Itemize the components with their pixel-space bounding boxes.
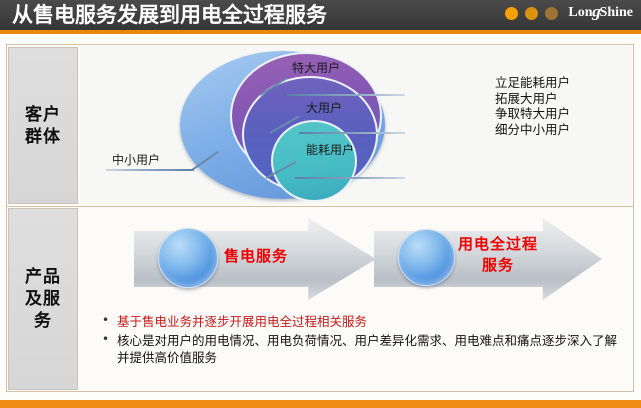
label-small-medium-users: 中小用户: [112, 151, 160, 168]
logo-text-post: Shine: [600, 5, 633, 20]
footer-accent-bar: [0, 400, 641, 408]
logo-text-mid: g: [592, 4, 601, 22]
leader-line-large-users: [299, 132, 405, 134]
logo-text-pre: Lon: [568, 5, 592, 20]
bullet-list: 基于售电业务并逐步开展用电全过程相关服务 核心是对用户的用电情况、用电负荷情况、…: [100, 313, 620, 368]
strategy-list-item: 拓展大用户: [495, 91, 570, 107]
strategy-list-item: 细分中小用户: [495, 122, 570, 138]
strategy-list: 立足能耗用户 拓展大用户 争取特大用户 细分中小用户: [495, 75, 570, 137]
sphere-icon-power-sales: [158, 228, 218, 288]
arrow-label-full-process-line1: 用电全过程: [458, 234, 538, 255]
arrow-label-full-process: 用电全过程 服务: [458, 234, 538, 276]
label-extra-large-users: 特大用户: [292, 59, 340, 76]
sidebar-label-customers: 客户 群体: [25, 104, 61, 148]
customer-diagram-panel: 中小用户 特大用户 大用户 能耗用户 立足能耗用户 拓展大用户 争取特大用户 细…: [80, 47, 632, 204]
page-title: 从售电服务发展到用电全过程服务: [12, 1, 327, 29]
arrow-label-full-process-line2: 服务: [458, 255, 538, 276]
logo-dot-2-icon: [525, 7, 538, 20]
sidebar-label-products-line2: 及服: [25, 288, 61, 310]
logo-dot-3-icon: [545, 7, 558, 20]
brand-logo: LongShine: [505, 5, 633, 21]
arrow-label-power-sales-line1: 售电服务: [224, 246, 288, 267]
leader-line-extra-large-users: [287, 94, 405, 96]
sidebar-label-customers-line1: 客户: [25, 104, 61, 126]
sidebar-label-products: 产品 及服 务: [25, 266, 61, 332]
sphere-icon-full-process: [398, 229, 455, 286]
strategy-list-item: 立足能耗用户: [495, 75, 570, 91]
bullet-item-2: 核心是对用户的用电情况、用电负荷情况、用户差异化需求、用电难点和痛点逐步深入了解…: [100, 332, 620, 367]
section-divider: [6, 206, 634, 207]
sidebar-item-customers: 客户 群体: [8, 47, 78, 204]
header-accent-strip: [0, 30, 641, 34]
bullet-item-1: 基于售电业务并逐步开展用电全过程相关服务: [100, 313, 620, 331]
strategy-list-item: 争取特大用户: [495, 106, 570, 122]
leader-line-small-medium-users: [106, 169, 194, 171]
logo-dot-1-icon: [505, 7, 518, 20]
slide-root: 从售电服务发展到用电全过程服务 LongShine 客户 群体 产品 及服 务: [0, 0, 641, 408]
header-bar: 从售电服务发展到用电全过程服务 LongShine: [0, 0, 641, 30]
label-energy-consumption-users: 能耗用户: [306, 141, 354, 158]
sidebar-label-customers-line2: 群体: [25, 126, 61, 148]
leader-line-energy-consumption-users: [295, 177, 405, 179]
sidebar-label-products-line1: 产品: [25, 266, 61, 288]
arrow-label-power-sales: 售电服务: [224, 246, 288, 267]
sidebar-item-products: 产品 及服 务: [8, 208, 78, 390]
products-services-panel: 售电服务 用电全过程 服务 基于售电业务并逐步开展用电全过程相关服务 核心是对用…: [80, 208, 632, 390]
logo-wordmark: LongShine: [568, 5, 633, 21]
sidebar-label-products-line3: 务: [25, 310, 61, 332]
label-large-users: 大用户: [306, 99, 342, 116]
